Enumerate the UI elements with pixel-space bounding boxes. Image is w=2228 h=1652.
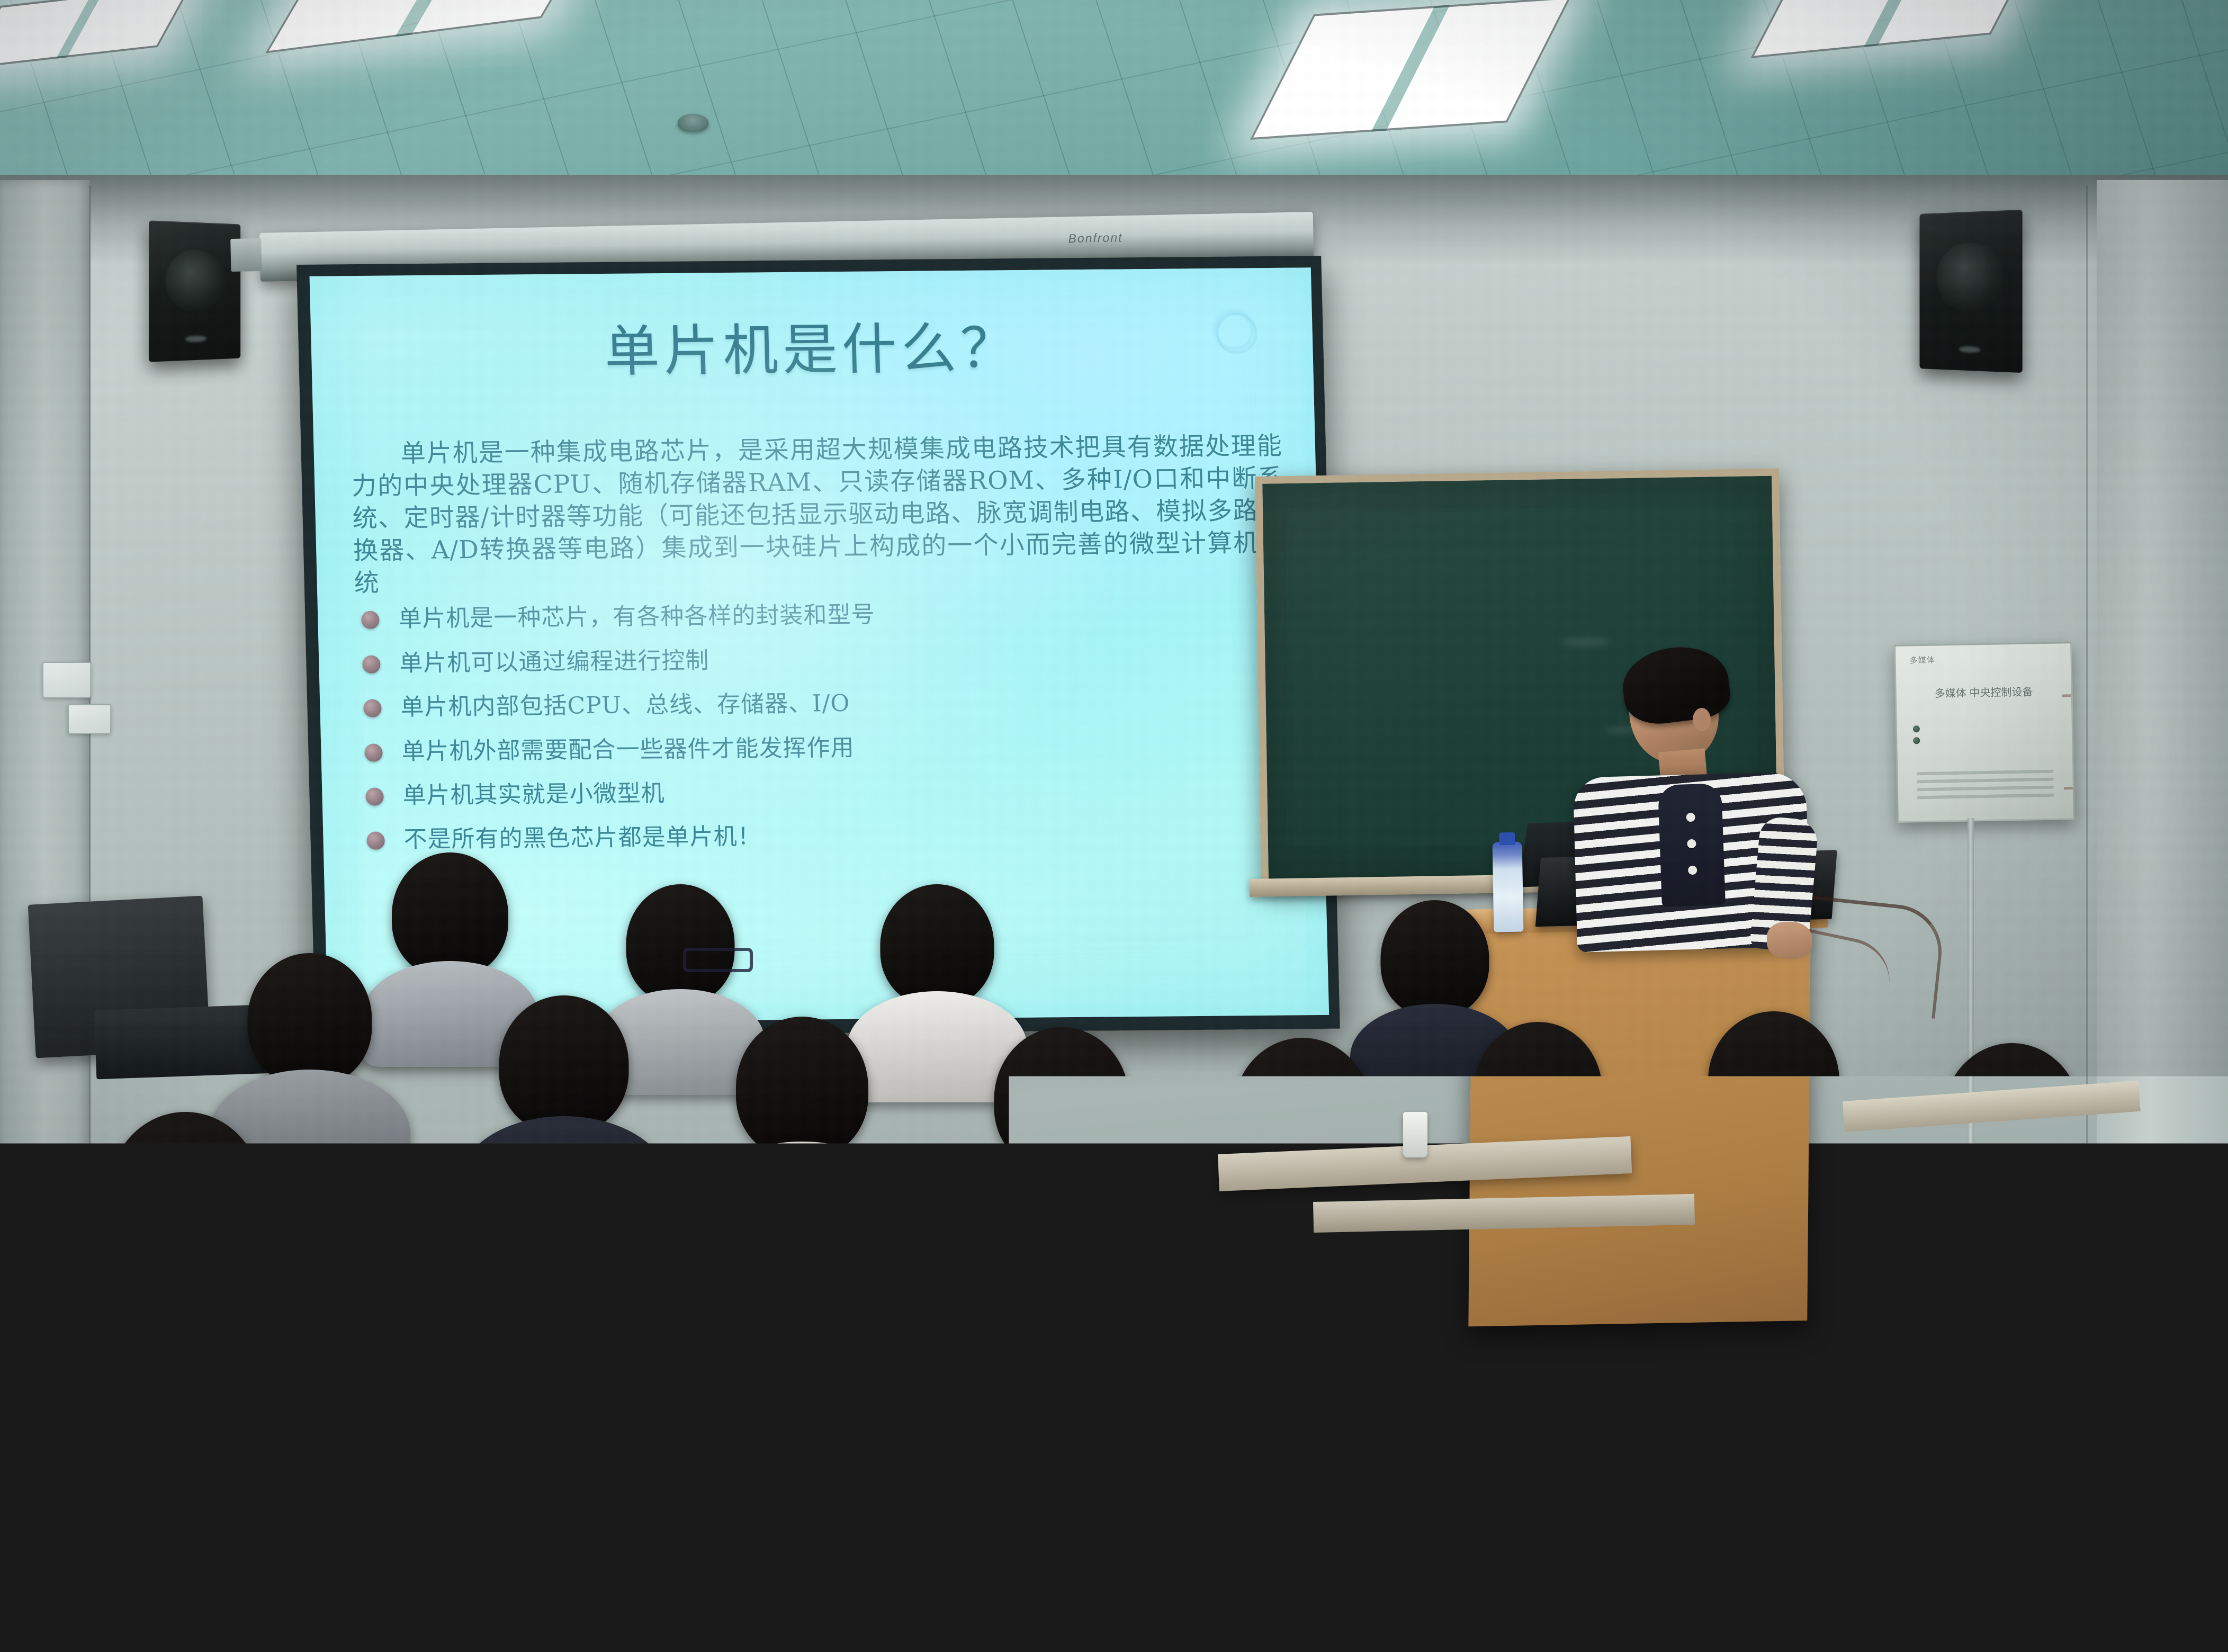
speaker-highlight <box>185 335 206 342</box>
classroom-photo: Bonfront 单片机是什么？ 单片机是一种集成电路芯片，是采用超大规模集成电… <box>0 0 2228 1652</box>
vent-slot <box>1917 786 2054 792</box>
slide-bullet-item: 单片机可以通过编程进行控制 <box>356 643 1288 677</box>
student-foreground <box>1758 1292 2076 1652</box>
bullet-dot-icon <box>363 699 382 717</box>
slide-bullet-item: 单片机内部包括CPU、总线、存储器、I/O <box>357 687 1289 721</box>
screwdriver-shaft <box>1124 1440 1139 1525</box>
control-box-main-label: 多媒体 中央控制设备 <box>1897 685 2071 702</box>
vent-slot <box>1917 778 2054 784</box>
bullet-dot-icon <box>361 611 380 629</box>
speaker-cone-icon <box>165 249 225 313</box>
speaker-highlight <box>1959 346 1981 353</box>
bullet-text: 单片机内部包括CPU、总线、存储器、I/O <box>400 690 850 721</box>
wall-switch-plate[interactable] <box>42 662 91 698</box>
speaker-cone-icon <box>1936 241 2004 312</box>
slide-bullet-item: 单片机外部需要配合一些器件才能发挥作用 <box>358 731 1290 765</box>
student-head <box>0 1228 196 1451</box>
student-head <box>736 1017 868 1159</box>
student-head <box>1474 1022 1602 1159</box>
student-head <box>1381 900 1489 1017</box>
bullet-text: 单片机可以通过编程进行控制 <box>399 647 709 677</box>
student-head <box>1708 1011 1839 1150</box>
slide-bullet-item: 单片机是一种芯片，有各种各样的封装和型号 <box>355 599 1287 633</box>
status-led <box>1913 737 1920 744</box>
screen-brand-label: Bonfront <box>1068 230 1122 246</box>
chalk-smudge <box>1561 638 1609 647</box>
student-foreground <box>678 1334 974 1652</box>
wall-outlet-plate[interactable] <box>68 704 111 734</box>
student-silhouette <box>1207 1038 1398 1287</box>
bullet-text: 单片机是一种芯片，有各种各样的封装和型号 <box>398 601 875 633</box>
student-head <box>1803 1292 2031 1530</box>
status-led <box>1913 725 1920 732</box>
lecture-chair <box>932 1472 1133 1620</box>
student-shoulders <box>948 1154 1175 1303</box>
slide-title: 单片机是什么？ <box>311 315 1314 384</box>
eyeglasses <box>1461 1107 1531 1131</box>
student-silhouette <box>709 1017 895 1244</box>
lecture-chair <box>1355 1398 1514 1520</box>
status-led-group <box>1913 725 1920 749</box>
bullet-dot-icon <box>364 743 383 761</box>
student-head <box>881 884 994 1006</box>
student-head <box>626 884 735 1003</box>
student-head <box>1233 1038 1372 1186</box>
student-silhouette <box>1451 1022 1625 1244</box>
phone-screen[interactable] <box>1668 1235 1734 1315</box>
iron-grip <box>882 1509 915 1616</box>
student-head <box>994 1027 1129 1171</box>
student-desk <box>873 1308 1171 1381</box>
wall-speaker-right <box>1920 210 2023 373</box>
presenter-ear <box>1693 708 1711 731</box>
slide-paragraph: 单片机是一种集成电路芯片，是采用超大规模集成电路技术把具有数据处理能力的中央处理… <box>351 430 1286 600</box>
control-box-top-label: 多媒体 <box>1909 654 1935 666</box>
student-silhouette <box>969 1027 1154 1260</box>
bullet-dot-icon <box>362 655 381 673</box>
bullet-text: 单片机外部需要配合一些器件才能发挥作用 <box>401 734 855 765</box>
student-shoulders <box>1726 1504 2107 1652</box>
smoke-detector-icon <box>678 114 708 132</box>
eyeglasses <box>683 948 753 972</box>
wall-speaker-left <box>149 220 240 362</box>
screen-mount-bracket <box>230 238 262 272</box>
screwdriver-grip <box>1121 1514 1153 1621</box>
vent-slot <box>1917 770 2053 776</box>
student-head <box>392 852 508 977</box>
student-head <box>248 953 372 1085</box>
student-head <box>499 995 629 1133</box>
student-head <box>357 1160 516 1329</box>
